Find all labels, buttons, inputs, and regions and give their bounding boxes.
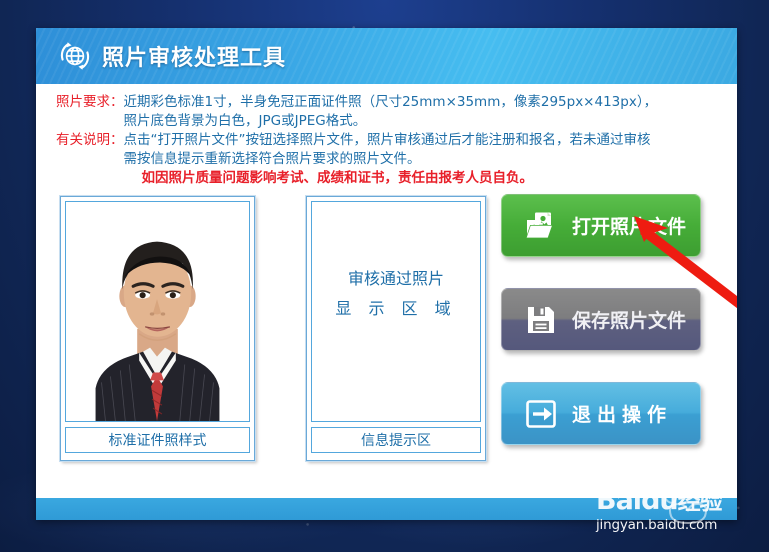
save-photo-button-label: 保存照片文件 (572, 306, 686, 333)
placeholder-line-1: 审核通过照片 (312, 264, 480, 294)
placeholder-line-2: 显 示 区 域 (312, 294, 480, 324)
notes-line-2: 需按信息提示重新选择符合照片要求的照片文件。 (124, 150, 651, 169)
open-photo-button[interactable]: 打开照片文件 (501, 194, 701, 257)
instructions-block: 照片要求： 近期彩色标准1寸，半身免冠正面证件照（尺寸25mm×35mm，像素2… (36, 84, 737, 192)
desktop-background: 照片审核处理工具 照片要求： 近期彩色标准1寸，半身免冠正面证件照（尺寸25mm… (0, 0, 769, 552)
requirement-line-2: 照片底色背景为白色，JPG或JPEG格式。 (124, 112, 658, 131)
notes-label: 有关说明： (56, 131, 124, 150)
notes-line-1: 点击“打开照片文件”按钮选择照片文件，照片审核通过后才能注册和报名，若未通过审核 (124, 131, 651, 150)
sample-photo-frame (65, 201, 250, 422)
save-photo-button[interactable]: 保存照片文件 (501, 288, 701, 351)
globe-refresh-icon (58, 39, 92, 73)
floppy-disk-icon (524, 303, 558, 337)
requirement-row: 照片要求： 近期彩色标准1寸，半身免冠正面证件照（尺寸25mm×35mm，像素2… (56, 93, 737, 131)
notes-row: 有关说明： 点击“打开照片文件”按钮选择照片文件，照片审核通过后才能注册和报名，… (56, 131, 737, 188)
window-footer-bar (36, 498, 737, 520)
open-photo-button-label: 打开照片文件 (572, 212, 686, 239)
exit-arrow-icon (524, 397, 558, 431)
requirement-line-1: 近期彩色标准1寸，半身免冠正面证件照（尺寸25mm×35mm，像素295px×4… (124, 93, 658, 112)
window-header: 照片审核处理工具 (36, 28, 737, 84)
approved-photo-panel: 审核通过照片 显 示 区 域 信息提示区 (306, 196, 486, 461)
exit-button[interactable]: 退出操作 (501, 382, 701, 445)
sample-photo-caption: 标准证件照样式 (65, 427, 250, 453)
requirement-label: 照片要求： (56, 93, 124, 112)
approved-photo-placeholder: 审核通过照片 显 示 区 域 (312, 264, 480, 324)
page-title: 照片审核处理工具 (102, 40, 286, 72)
exit-button-label: 退出操作 (572, 400, 672, 427)
approved-photo-frame: 审核通过照片 显 示 区 域 (311, 201, 481, 422)
sample-photo-panel: 标准证件照样式 (60, 196, 255, 461)
info-message-area: 信息提示区 (311, 427, 481, 453)
warning-line: 如因照片质量问题影响考试、成绩和证书，责任由报考人员自负。 (124, 169, 651, 188)
id-photo-image (66, 202, 249, 421)
application-window: 照片审核处理工具 照片要求： 近期彩色标准1寸，半身免冠正面证件照（尺寸25mm… (36, 28, 737, 520)
main-content: 标准证件照样式 审核通过照片 显 示 区 域 信息提示区 (36, 192, 737, 479)
open-folder-photo-icon (524, 209, 558, 243)
